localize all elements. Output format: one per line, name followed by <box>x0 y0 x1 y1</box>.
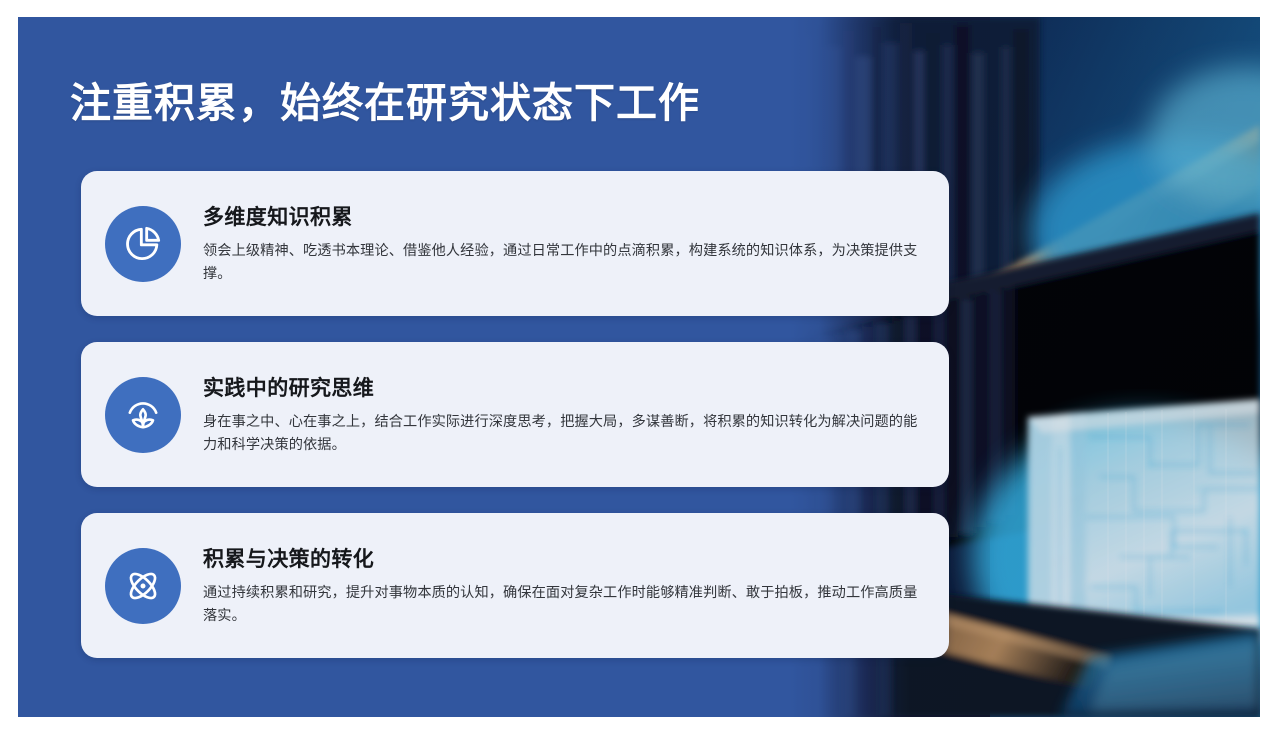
card-text: 多维度知识积累 领会上级精神、吃透书本理论、借鉴他人经验，通过日常工作中的点滴积… <box>203 201 949 286</box>
card-text: 实践中的研究思维 身在事之中、心在事之上，结合工作实际进行深度思考，把握大局，多… <box>203 372 949 457</box>
card-title: 积累与决策的转化 <box>203 543 925 573</box>
pie-chart-icon <box>105 206 181 282</box>
card-body: 领会上级精神、吃透书本理论、借鉴他人经验，通过日常工作中的点滴积累，构建系统的知… <box>203 240 925 286</box>
lotus-icon <box>105 377 181 453</box>
card-text: 积累与决策的转化 通过持续积累和研究，提升对事物本质的认知，确保在面对复杂工作时… <box>203 543 949 628</box>
card-body: 通过持续积累和研究，提升对事物本质的认知，确保在面对复杂工作时能够精准判断、敢于… <box>203 582 925 628</box>
card-title: 实践中的研究思维 <box>203 372 925 402</box>
card-research-mindset[interactable]: 实践中的研究思维 身在事之中、心在事之上，结合工作实际进行深度思考，把握大局，多… <box>81 342 949 487</box>
card-decision-transformation[interactable]: 积累与决策的转化 通过持续积累和研究，提升对事物本质的认知，确保在面对复杂工作时… <box>81 513 949 658</box>
card-knowledge-accumulation[interactable]: 多维度知识积累 领会上级精神、吃透书本理论、借鉴他人经验，通过日常工作中的点滴积… <box>81 171 949 316</box>
page-title: 注重积累，始终在研究状态下工作 <box>70 69 700 129</box>
card-list: 多维度知识积累 领会上级精神、吃透书本理论、借鉴他人经验，通过日常工作中的点滴积… <box>81 171 949 658</box>
slide: 注重积累，始终在研究状态下工作 多维度知识积累 领会上级精神、吃透书本理论、借鉴… <box>18 17 1260 717</box>
atom-icon <box>105 548 181 624</box>
card-title: 多维度知识积累 <box>203 201 925 231</box>
card-body: 身在事之中、心在事之上，结合工作实际进行深度思考，把握大局，多谋善断，将积累的知… <box>203 411 925 457</box>
